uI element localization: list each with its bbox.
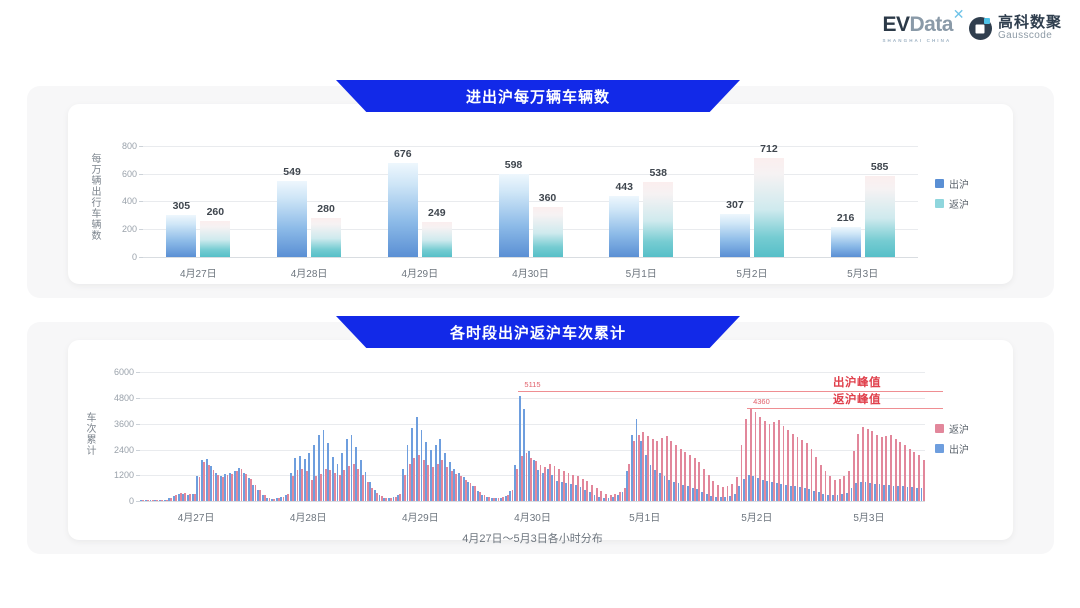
bar-返沪-5月2日 <box>754 158 784 257</box>
evdata-tagline: SHANGHAI CHINA <box>882 38 951 43</box>
gausscode-mark-icon <box>969 17 992 40</box>
bar-chart-hourly: 012002400360048006000车次累计4月27日4月28日4月29日… <box>140 366 925 501</box>
y-tick-mark-400 <box>139 201 143 202</box>
y-tick-label-600: 600 <box>122 169 137 179</box>
x-tick-label-4月30日: 4月30日 <box>514 509 551 524</box>
bar-value-出沪-5月1日: 443 <box>615 181 633 193</box>
x-tick-label-5月1日: 5月1日 <box>626 265 657 280</box>
evdata-logo: EVData✕ SHANGHAI CHINA <box>882 14 953 43</box>
bar-返沪-4月27日 <box>200 221 230 257</box>
bar-value-出沪-4月28日: 549 <box>283 166 301 178</box>
chart-title-banner-2: 各时段出沪返沪车次累计 <box>336 316 740 348</box>
bar-value-返沪-5月3日: 585 <box>871 161 889 173</box>
gridline-y-400 <box>143 201 918 202</box>
chart-title-banner-1: 进出沪每万辆车辆数 <box>336 80 740 112</box>
bar-value-返沪-4月29日: 249 <box>428 207 446 219</box>
legend-label-出沪: 出沪 <box>949 441 969 456</box>
legend-row-返沪: 返沪 <box>935 196 969 211</box>
y-tick-mark-0 <box>139 257 143 258</box>
legend-label-返沪: 返沪 <box>949 421 969 436</box>
bar-出沪-5月3日 <box>831 227 861 257</box>
bar-返沪-5月3日 <box>865 176 895 257</box>
gridline-y-3600 <box>140 424 925 425</box>
x-axis-caption-chart-2: 4月27日～5月3日各小时分布 <box>462 530 603 546</box>
x-tick-label-5月3日: 5月3日 <box>847 265 878 280</box>
legend-swatch-出沪 <box>935 179 944 188</box>
bar-返沪-4月30日 <box>533 207 563 257</box>
bar-出沪-5月1日 <box>609 196 639 257</box>
x-tick-label-5月3日: 5月3日 <box>853 509 884 524</box>
bar-value-返沪-4月28日: 280 <box>317 203 335 215</box>
bar-value-返沪-4月30日: 360 <box>539 192 557 204</box>
gridline-y-4800 <box>140 398 925 399</box>
y-tick-mark-6000 <box>136 372 140 373</box>
annotation-line-返沪峰值 <box>747 408 943 409</box>
bar-value-出沪-5月3日: 216 <box>837 212 855 224</box>
y-axis-label-chart-2: 车次累计 <box>82 366 97 501</box>
gridline-y-0 <box>140 501 925 502</box>
y-tick-label-800: 800 <box>122 141 137 151</box>
bar-出沪-5月2日 <box>720 214 750 257</box>
bar-出沪-4月27日 <box>166 215 196 257</box>
logo-group: EVData✕ SHANGHAI CHINA 高科数聚 Gausscode <box>882 14 1062 43</box>
legend-chart-2: 返沪出沪 <box>935 421 969 461</box>
gridline-y-0 <box>143 257 918 258</box>
legend-row-出沪: 出沪 <box>935 441 969 456</box>
bar-value-出沪-4月27日: 305 <box>173 200 191 212</box>
hour-bar-back-167 <box>923 460 925 501</box>
legend-label-出沪: 出沪 <box>949 176 969 191</box>
bar-出沪-4月29日 <box>388 163 418 257</box>
y-tick-mark-600 <box>139 174 143 175</box>
y-tick-label-400: 400 <box>122 196 137 206</box>
y-tick-label-2400: 2400 <box>114 445 134 455</box>
y-tick-mark-2400 <box>136 450 140 451</box>
y-tick-label-0: 0 <box>132 252 137 262</box>
x-tick-label-4月29日: 4月29日 <box>401 265 438 280</box>
gridline-y-6000 <box>140 372 925 373</box>
y-tick-label-3600: 3600 <box>114 419 134 429</box>
gridline-y-600 <box>143 174 918 175</box>
x-tick-label-5月2日: 5月2日 <box>741 509 772 524</box>
annotation-value-出沪峰值: 5115 <box>524 380 540 389</box>
x-tick-label-4月27日: 4月27日 <box>180 265 217 280</box>
y-tick-label-4800: 4800 <box>114 393 134 403</box>
bar-返沪-4月29日 <box>422 222 452 257</box>
evdata-wordmark: EVData✕ <box>882 14 953 35</box>
y-tick-mark-0 <box>136 501 140 502</box>
legend-row-返沪: 返沪 <box>935 421 969 436</box>
y-axis-label-chart-1: 每万辆出行车辆数 <box>87 141 102 253</box>
y-tick-label-0: 0 <box>129 496 134 506</box>
y-tick-mark-3600 <box>136 424 140 425</box>
x-tick-label-4月28日: 4月28日 <box>290 509 327 524</box>
bar-value-返沪-4月27日: 260 <box>207 206 225 218</box>
evdata-data-text: Data <box>909 13 953 36</box>
y-tick-label-6000: 6000 <box>114 367 134 377</box>
evdata-ev-text: EV <box>882 13 909 36</box>
evdata-x-icon: ✕ <box>953 7 964 21</box>
bar-返沪-4月28日 <box>311 218 341 257</box>
bar-chart-daily: 0200400600800每万辆出行车辆数3052604月27日5492804月… <box>143 139 918 257</box>
page-header: EVData✕ SHANGHAI CHINA 高科数聚 Gausscode <box>0 0 1080 62</box>
x-tick-label-4月27日: 4月27日 <box>178 509 215 524</box>
gridline-y-200 <box>143 229 918 230</box>
legend-swatch-返沪 <box>935 424 944 433</box>
x-tick-label-5月2日: 5月2日 <box>736 265 767 280</box>
bar-value-出沪-4月30日: 598 <box>505 159 523 171</box>
x-tick-label-5月1日: 5月1日 <box>629 509 660 524</box>
y-tick-label-200: 200 <box>122 224 137 234</box>
y-tick-mark-4800 <box>136 398 140 399</box>
x-tick-label-4月29日: 4月29日 <box>402 509 439 524</box>
legend-swatch-出沪 <box>935 444 944 453</box>
gausscode-text: 高科数聚 Gausscode <box>998 15 1062 41</box>
gausscode-en-name: Gausscode <box>998 31 1062 42</box>
bar-value-出沪-5月2日: 307 <box>726 199 744 211</box>
x-tick-label-4月28日: 4月28日 <box>291 265 328 280</box>
y-tick-label-1200: 1200 <box>114 470 134 480</box>
legend-row-出沪: 出沪 <box>935 176 969 191</box>
x-tick-label-4月30日: 4月30日 <box>512 265 549 280</box>
bar-出沪-4月30日 <box>499 174 529 257</box>
bar-value-返沪-5月1日: 538 <box>649 167 667 179</box>
legend-swatch-返沪 <box>935 199 944 208</box>
gridline-y-800 <box>143 146 918 147</box>
bar-出沪-4月28日 <box>277 181 307 257</box>
annotation-label-返沪峰值: 返沪峰值 <box>833 391 881 407</box>
annotation-value-返沪峰值: 4360 <box>753 397 770 406</box>
y-tick-mark-1200 <box>136 475 140 476</box>
bar-返沪-5月1日 <box>643 182 673 257</box>
y-tick-mark-800 <box>139 146 143 147</box>
annotation-label-出沪峰值: 出沪峰值 <box>833 374 881 390</box>
legend-chart-1: 出沪返沪 <box>935 176 969 216</box>
gausscode-cn-name: 高科数聚 <box>998 15 1062 31</box>
bar-value-出沪-4月29日: 676 <box>394 148 412 160</box>
legend-label-返沪: 返沪 <box>949 196 969 211</box>
gausscode-logo: 高科数聚 Gausscode <box>969 15 1062 41</box>
bar-value-返沪-5月2日: 712 <box>760 143 778 155</box>
y-tick-mark-200 <box>139 229 143 230</box>
